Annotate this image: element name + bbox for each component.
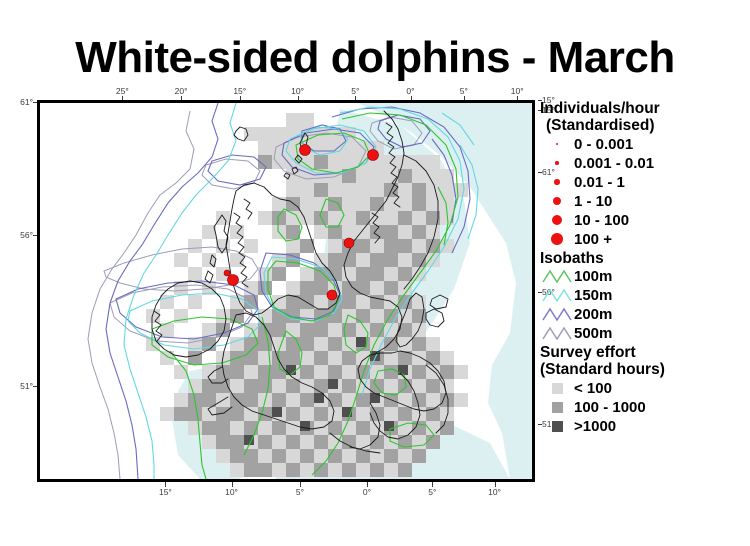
axis-bottom-tick-4	[432, 482, 433, 487]
abundance-class-5-key	[540, 233, 574, 246]
abundance-class-3-row: 1 - 10	[540, 192, 748, 211]
isobath-swatch-2	[542, 307, 572, 322]
isobath-swatch-1	[542, 288, 572, 303]
map-frame[interactable]	[37, 100, 535, 482]
axis-bottom-label-5: 10°	[488, 487, 501, 497]
isobath-class-0-row: 100m	[540, 267, 748, 286]
sighting-shetland[interactable]	[300, 145, 311, 156]
axis-bottom-tick-5	[495, 482, 496, 487]
effort-class-0-key	[540, 383, 574, 394]
legend-panel: Individuals/hour (Standardised) 0 - 0.00…	[540, 100, 748, 450]
effort-class-1-label: 100 - 1000	[574, 399, 646, 416]
effort-swatch-1	[552, 402, 563, 413]
abundance-swatch-3	[553, 197, 561, 205]
isobath-class-0-label: 100m	[574, 268, 612, 285]
abundance-swatch-1	[555, 161, 559, 165]
figure-title: White-sided dolphins - March	[0, 36, 750, 80]
isobath-class-1-label: 150m	[574, 287, 612, 304]
abundance-class-0-key	[540, 143, 574, 146]
sighting-norway-trench[interactable]	[368, 150, 379, 161]
effort-class-2-row: >1000	[540, 417, 748, 436]
axis-top-label-3: 10°	[291, 86, 304, 96]
sighting-moray-firth[interactable]	[344, 238, 354, 248]
isobath-class-3-label: 500m	[574, 325, 612, 342]
effort-class-2-key	[540, 421, 574, 432]
legend-abundance-rows: 0 - 0.0010.001 - 0.010.01 - 11 - 1010 - …	[540, 135, 748, 249]
axis-bottom-tick-1	[232, 482, 233, 487]
isobath-class-1-row: 150m	[540, 286, 748, 305]
abundance-class-4-row: 10 - 100	[540, 211, 748, 230]
abundance-swatch-2	[554, 179, 560, 185]
legend-abundance-heading-2: (Standardised)	[546, 117, 748, 134]
sighting-hebrides-north[interactable]	[224, 270, 230, 276]
axis-bottom-label-0: 15°	[159, 487, 172, 497]
legend-isobaths-heading: Isobaths	[540, 250, 748, 267]
abundance-class-1-row: 0.001 - 0.01	[540, 154, 748, 173]
abundance-class-0-label: 0 - 0.001	[574, 136, 633, 153]
effort-class-2-label: >1000	[574, 418, 616, 435]
isobath-class-2-row: 200m	[540, 305, 748, 324]
abundance-class-5-label: 100 +	[574, 231, 612, 248]
legend-abundance-heading-1: Individuals/hour	[540, 100, 748, 117]
abundance-class-1-key	[540, 161, 574, 165]
axis-left-label-0: 61°	[20, 97, 33, 107]
axis-bottom-label-4: 5°	[428, 487, 436, 497]
axis-top-label-5: 0°	[406, 86, 414, 96]
figure-root: White-sided dolphins - March 25°20°15°10…	[0, 0, 750, 546]
axis-bottom-label-1: 10°	[225, 487, 238, 497]
axis-left-label-2: 51°	[20, 381, 33, 391]
abundance-class-3-label: 1 - 10	[574, 193, 612, 210]
abundance-swatch-4	[552, 215, 562, 225]
isobath-class-2-label: 200m	[574, 306, 612, 323]
abundance-class-2-key	[540, 179, 574, 185]
sighting-hebrides-south[interactable]	[228, 275, 239, 286]
abundance-class-4-label: 10 - 100	[574, 212, 629, 229]
legend-effort-heading-1: Survey effort	[540, 344, 748, 361]
isobath-swatch-0	[542, 269, 572, 284]
abundance-class-1-label: 0.001 - 0.01	[574, 155, 654, 172]
axis-bottom-tick-0	[165, 482, 166, 487]
effort-class-1-key	[540, 402, 574, 413]
effort-class-0-label: < 100	[574, 380, 612, 397]
abundance-class-2-label: 0.01 - 1	[574, 174, 625, 191]
abundance-class-2-row: 0.01 - 1	[540, 173, 748, 192]
effort-swatch-2	[552, 421, 563, 432]
isobath-class-3-key	[540, 326, 574, 341]
isobath-class-1-key	[540, 288, 574, 303]
axis-bottom-label-2: 5°	[296, 487, 304, 497]
axis-top-label-6: 5°	[460, 86, 468, 96]
axis-top-label-2: 15°	[233, 86, 246, 96]
sighting-firth-of-forth[interactable]	[327, 290, 337, 300]
isobath-swatch-3	[542, 326, 572, 341]
effort-class-0-row: < 100	[540, 379, 748, 398]
axis-top-label-7: 10°	[511, 86, 524, 96]
axis-bottom-label-3: 0°	[363, 487, 371, 497]
isobath-class-0-key	[540, 269, 574, 284]
axis-left-label-1: 56°	[20, 230, 33, 240]
map-canvas	[40, 103, 532, 479]
axis-bottom-tick-2	[300, 482, 301, 487]
abundance-swatch-5	[551, 233, 564, 246]
abundance-swatch-0	[556, 143, 559, 146]
axis-top-label-1: 20°	[175, 86, 188, 96]
abundance-class-3-key	[540, 197, 574, 205]
axis-top-label-0: 25°	[116, 86, 129, 96]
axis-bottom-tick-3	[367, 482, 368, 487]
legend-effort-heading-2: (Standard hours)	[540, 361, 748, 378]
isobath-class-3-row: 500m	[540, 324, 748, 343]
abundance-class-5-row: 100 +	[540, 230, 748, 249]
abundance-class-4-key	[540, 215, 574, 225]
effort-swatch-0	[552, 383, 563, 394]
abundance-class-0-row: 0 - 0.001	[540, 135, 748, 154]
effort-class-1-row: 100 - 1000	[540, 398, 748, 417]
legend-effort-rows: < 100100 - 1000>1000	[540, 379, 748, 436]
isobath-class-2-key	[540, 307, 574, 322]
legend-isobath-rows: 100m150m200m500m	[540, 267, 748, 343]
axis-top-label-4: 5°	[351, 86, 359, 96]
